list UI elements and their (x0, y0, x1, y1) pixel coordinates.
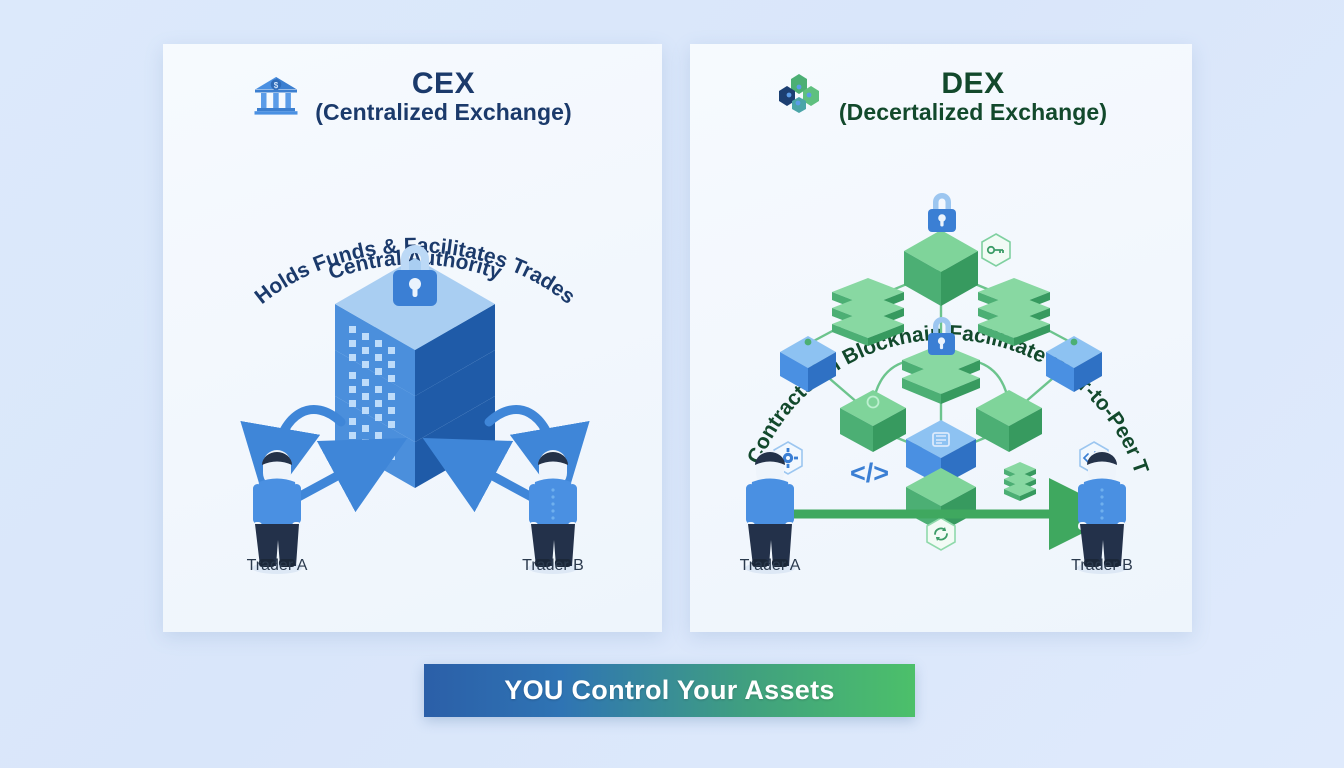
padlock-icon (928, 193, 956, 232)
svg-text:</>: </> (850, 458, 889, 488)
dex-panel: DEX (Decertalized Exchange) Smart Contra… (690, 44, 1192, 632)
network-node-cube (1046, 336, 1102, 392)
bottom-banner: YOU Control Your Assets (424, 664, 915, 717)
trader-a-figure (252, 450, 302, 574)
layer-stack-node (832, 278, 904, 346)
cex-trader-a-label: Trader A (207, 557, 347, 575)
dex-trader-a-label: Trader A (700, 557, 840, 575)
banner-text: YOU Control Your Assets (504, 675, 834, 706)
key-badge-icon (982, 234, 1010, 266)
network-node-cube (904, 230, 978, 306)
trader-b-figure (528, 450, 578, 574)
network-node-cube (780, 336, 836, 392)
cex-trader-b-label: Trader B (483, 557, 623, 575)
network-node-cube (976, 390, 1042, 452)
cex-scene (163, 44, 662, 632)
cex-panel: $ CEX (Centralized Exchange) Central Aut… (163, 44, 662, 632)
padlock-icon (393, 245, 437, 306)
layer-stack-node (978, 278, 1050, 346)
dex-scene: </> (690, 44, 1192, 632)
network-node-cube (840, 390, 906, 452)
refresh-badge-icon (927, 518, 955, 550)
database-stack-icon (1004, 462, 1036, 501)
code-brackets-icon: </> (850, 458, 889, 488)
dex-trader-b-label: Trader B (1032, 557, 1172, 575)
